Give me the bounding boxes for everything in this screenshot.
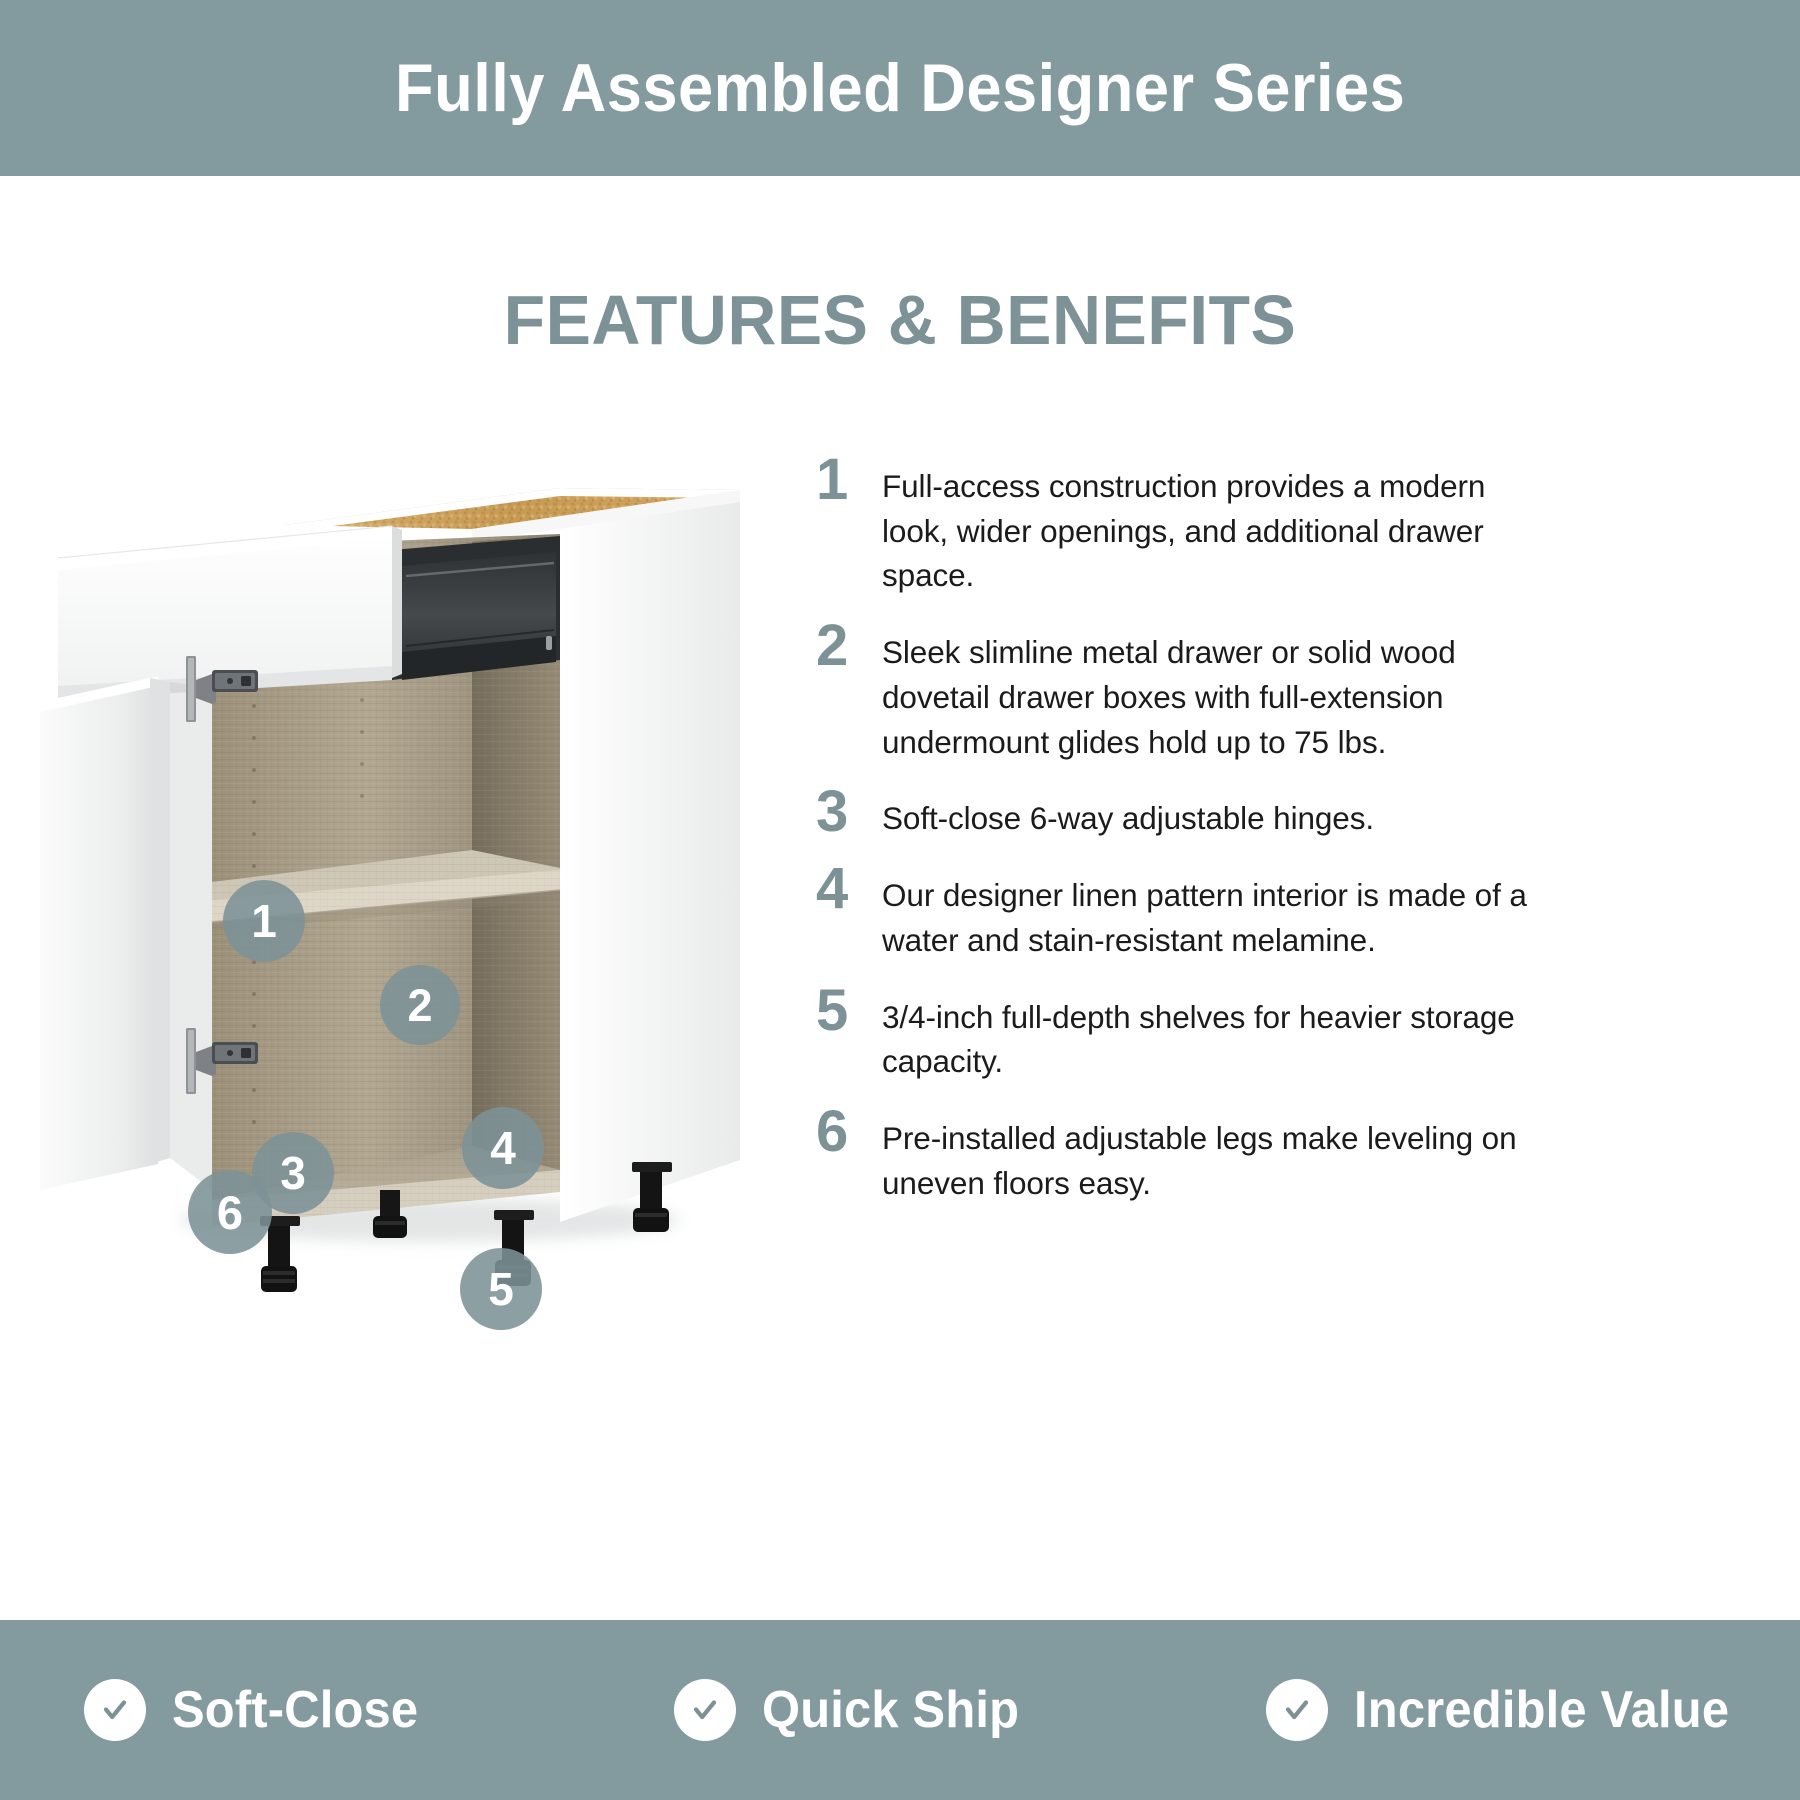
footer-badge-incredible-value: Incredible Value bbox=[1200, 1679, 1800, 1741]
callout-badge-1-label: 1 bbox=[251, 898, 277, 944]
feature-number-2: 2 bbox=[810, 618, 882, 675]
footer-label-soft-close: Soft-Close bbox=[172, 1680, 418, 1740]
check-circle-icon bbox=[84, 1679, 146, 1741]
header-band: Fully Assembled Designer Series bbox=[0, 0, 1800, 176]
feature-text-6: Pre-installed adjustable legs make level… bbox=[882, 1104, 1550, 1205]
feature-text-2: Sleek slimline metal drawer or solid woo… bbox=[882, 618, 1550, 764]
product-image: 1 2 3 4 5 6 bbox=[40, 430, 800, 1330]
check-circle-icon bbox=[1266, 1679, 1328, 1741]
callout-badge-6-label: 6 bbox=[217, 1189, 243, 1236]
feature-number-6: 6 bbox=[810, 1104, 882, 1161]
feature-item-6: 6 Pre-installed adjustable legs make lev… bbox=[810, 1104, 1550, 1205]
callout-badge-2: 2 bbox=[380, 965, 460, 1045]
cabinet-illustration bbox=[40, 430, 800, 1330]
feature-number-5: 5 bbox=[810, 983, 882, 1040]
feature-number-1: 1 bbox=[810, 452, 882, 509]
callout-badge-1: 1 bbox=[223, 880, 305, 962]
footer-badge-quick-ship: Quick Ship bbox=[600, 1679, 1200, 1741]
page-title: Fully Assembled Designer Series bbox=[395, 54, 1405, 122]
footer-label-incredible-value: Incredible Value bbox=[1354, 1680, 1729, 1740]
feature-number-3: 3 bbox=[810, 784, 882, 841]
check-circle-icon bbox=[674, 1679, 736, 1741]
footer-label-quick-ship: Quick Ship bbox=[762, 1680, 1019, 1740]
feature-text-5: 3/4-inch full-depth shelves for heavier … bbox=[882, 983, 1550, 1084]
callout-badge-4: 4 bbox=[462, 1107, 544, 1189]
footer-badge-soft-close: Soft-Close bbox=[0, 1679, 600, 1741]
callout-badge-2-label: 2 bbox=[407, 983, 432, 1028]
feature-item-2: 2 Sleek slimline metal drawer or solid w… bbox=[810, 618, 1550, 764]
footer-band: Soft-Close Quick Ship Incredible Value bbox=[0, 1620, 1800, 1800]
feature-text-4: Our designer linen pattern interior is m… bbox=[882, 861, 1550, 962]
callout-badge-3-label: 3 bbox=[280, 1150, 306, 1196]
feature-item-4: 4 Our designer linen pattern interior is… bbox=[810, 861, 1550, 962]
feature-item-1: 1 Full-access construction provides a mo… bbox=[810, 452, 1550, 598]
feature-text-1: Full-access construction provides a mode… bbox=[882, 452, 1550, 598]
feature-text-3: Soft-close 6-way adjustable hinges. bbox=[882, 784, 1550, 841]
feature-item-5: 5 3/4-inch full-depth shelves for heavie… bbox=[810, 983, 1550, 1084]
callout-badge-4-label: 4 bbox=[490, 1125, 516, 1171]
feature-number-4: 4 bbox=[810, 861, 882, 918]
feature-item-3: 3 Soft-close 6-way adjustable hinges. bbox=[810, 784, 1550, 841]
callout-badge-6: 6 bbox=[188, 1170, 272, 1254]
callout-badge-5-label: 5 bbox=[488, 1266, 514, 1312]
section-heading: FEATURES & BENEFITS bbox=[27, 280, 1773, 360]
callout-badge-5: 5 bbox=[460, 1248, 542, 1330]
features-list: 1 Full-access construction provides a mo… bbox=[810, 452, 1550, 1225]
